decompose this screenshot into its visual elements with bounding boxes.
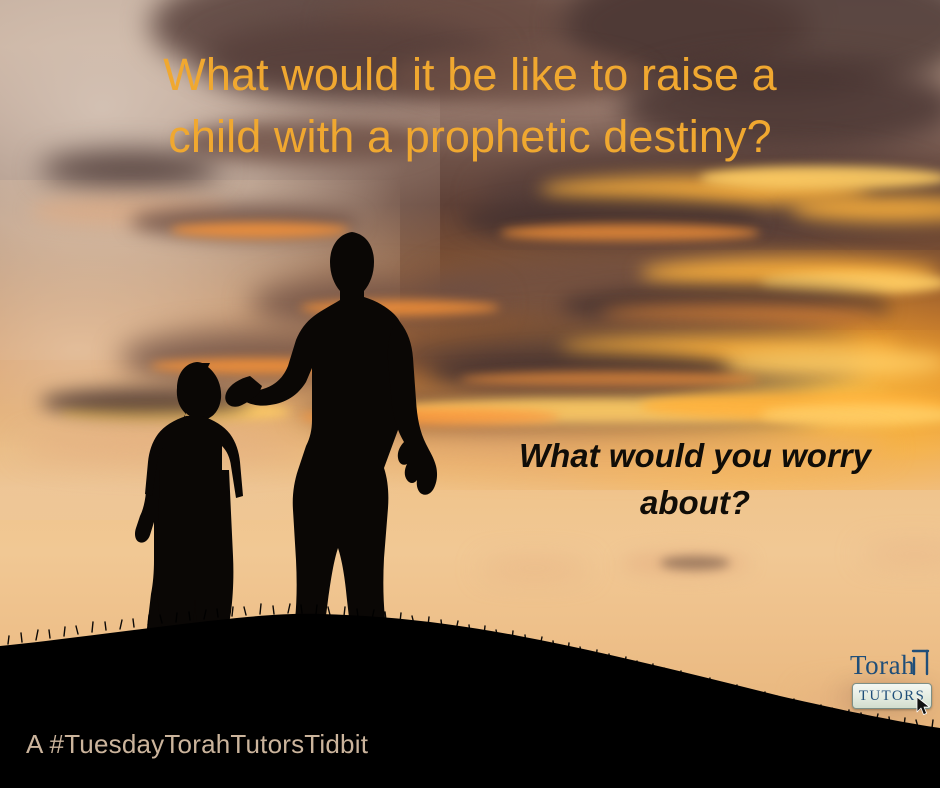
logo-wordmark: Torah <box>850 650 915 680</box>
hebrew-hei-icon <box>910 647 932 679</box>
poster-canvas: What would it be like to raise a child w… <box>0 0 940 788</box>
subhead-text: What would you worry about? <box>470 432 920 526</box>
torah-tutors-logo[interactable]: Torah TUTORS <box>846 650 938 712</box>
mouse-pointer-icon <box>916 696 932 716</box>
headline-text: What would it be like to raise a child w… <box>0 44 940 168</box>
hashtag-caption: A #TuesdayTorahTutorsTidbit <box>26 729 368 759</box>
